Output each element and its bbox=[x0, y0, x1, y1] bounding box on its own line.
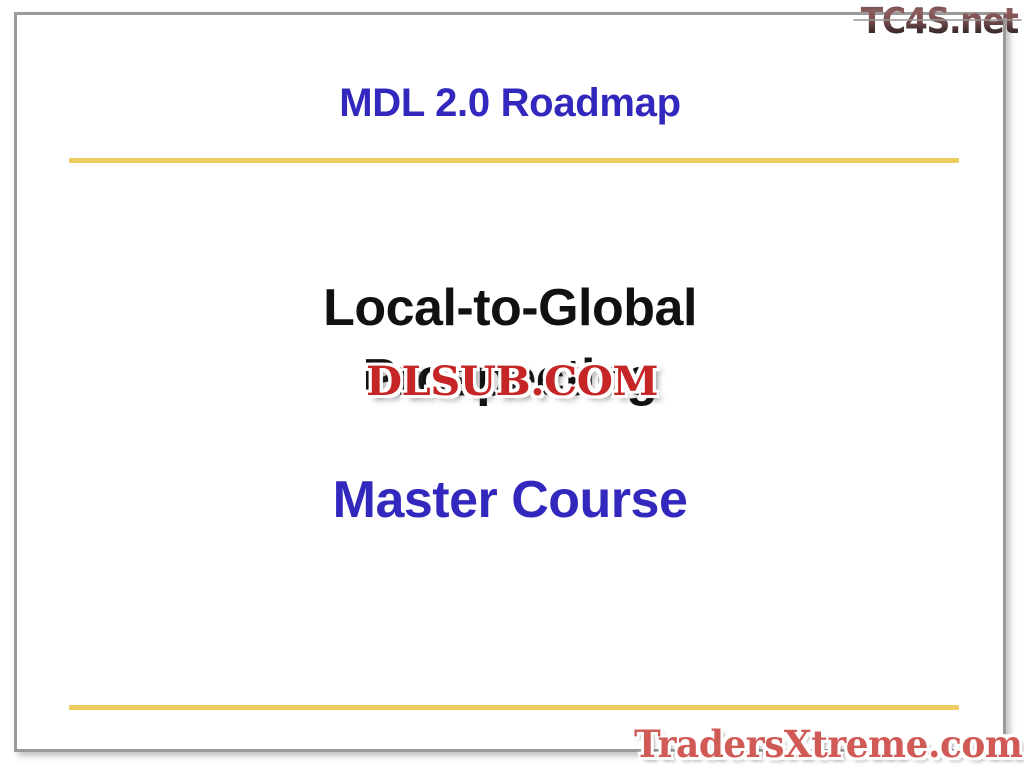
slide-subtitle: Master Course bbox=[17, 465, 1003, 535]
divider-rule-bottom bbox=[69, 705, 959, 710]
watermark-dlsub-com: DLSUB.COM bbox=[366, 358, 658, 405]
slide-viewport: MDL 2.0 Roadmap Local-to-Global Prospect… bbox=[0, 0, 1024, 768]
page-title: MDL 2.0 Roadmap bbox=[17, 81, 1003, 125]
body-line-1: Local-to-Global bbox=[17, 273, 1003, 343]
watermark-tradersxtreme-com: TradersXtreme.com bbox=[634, 722, 1022, 766]
divider-rule-top bbox=[69, 158, 959, 163]
watermark-tc4s-net: TC4S.net bbox=[861, 2, 1018, 42]
